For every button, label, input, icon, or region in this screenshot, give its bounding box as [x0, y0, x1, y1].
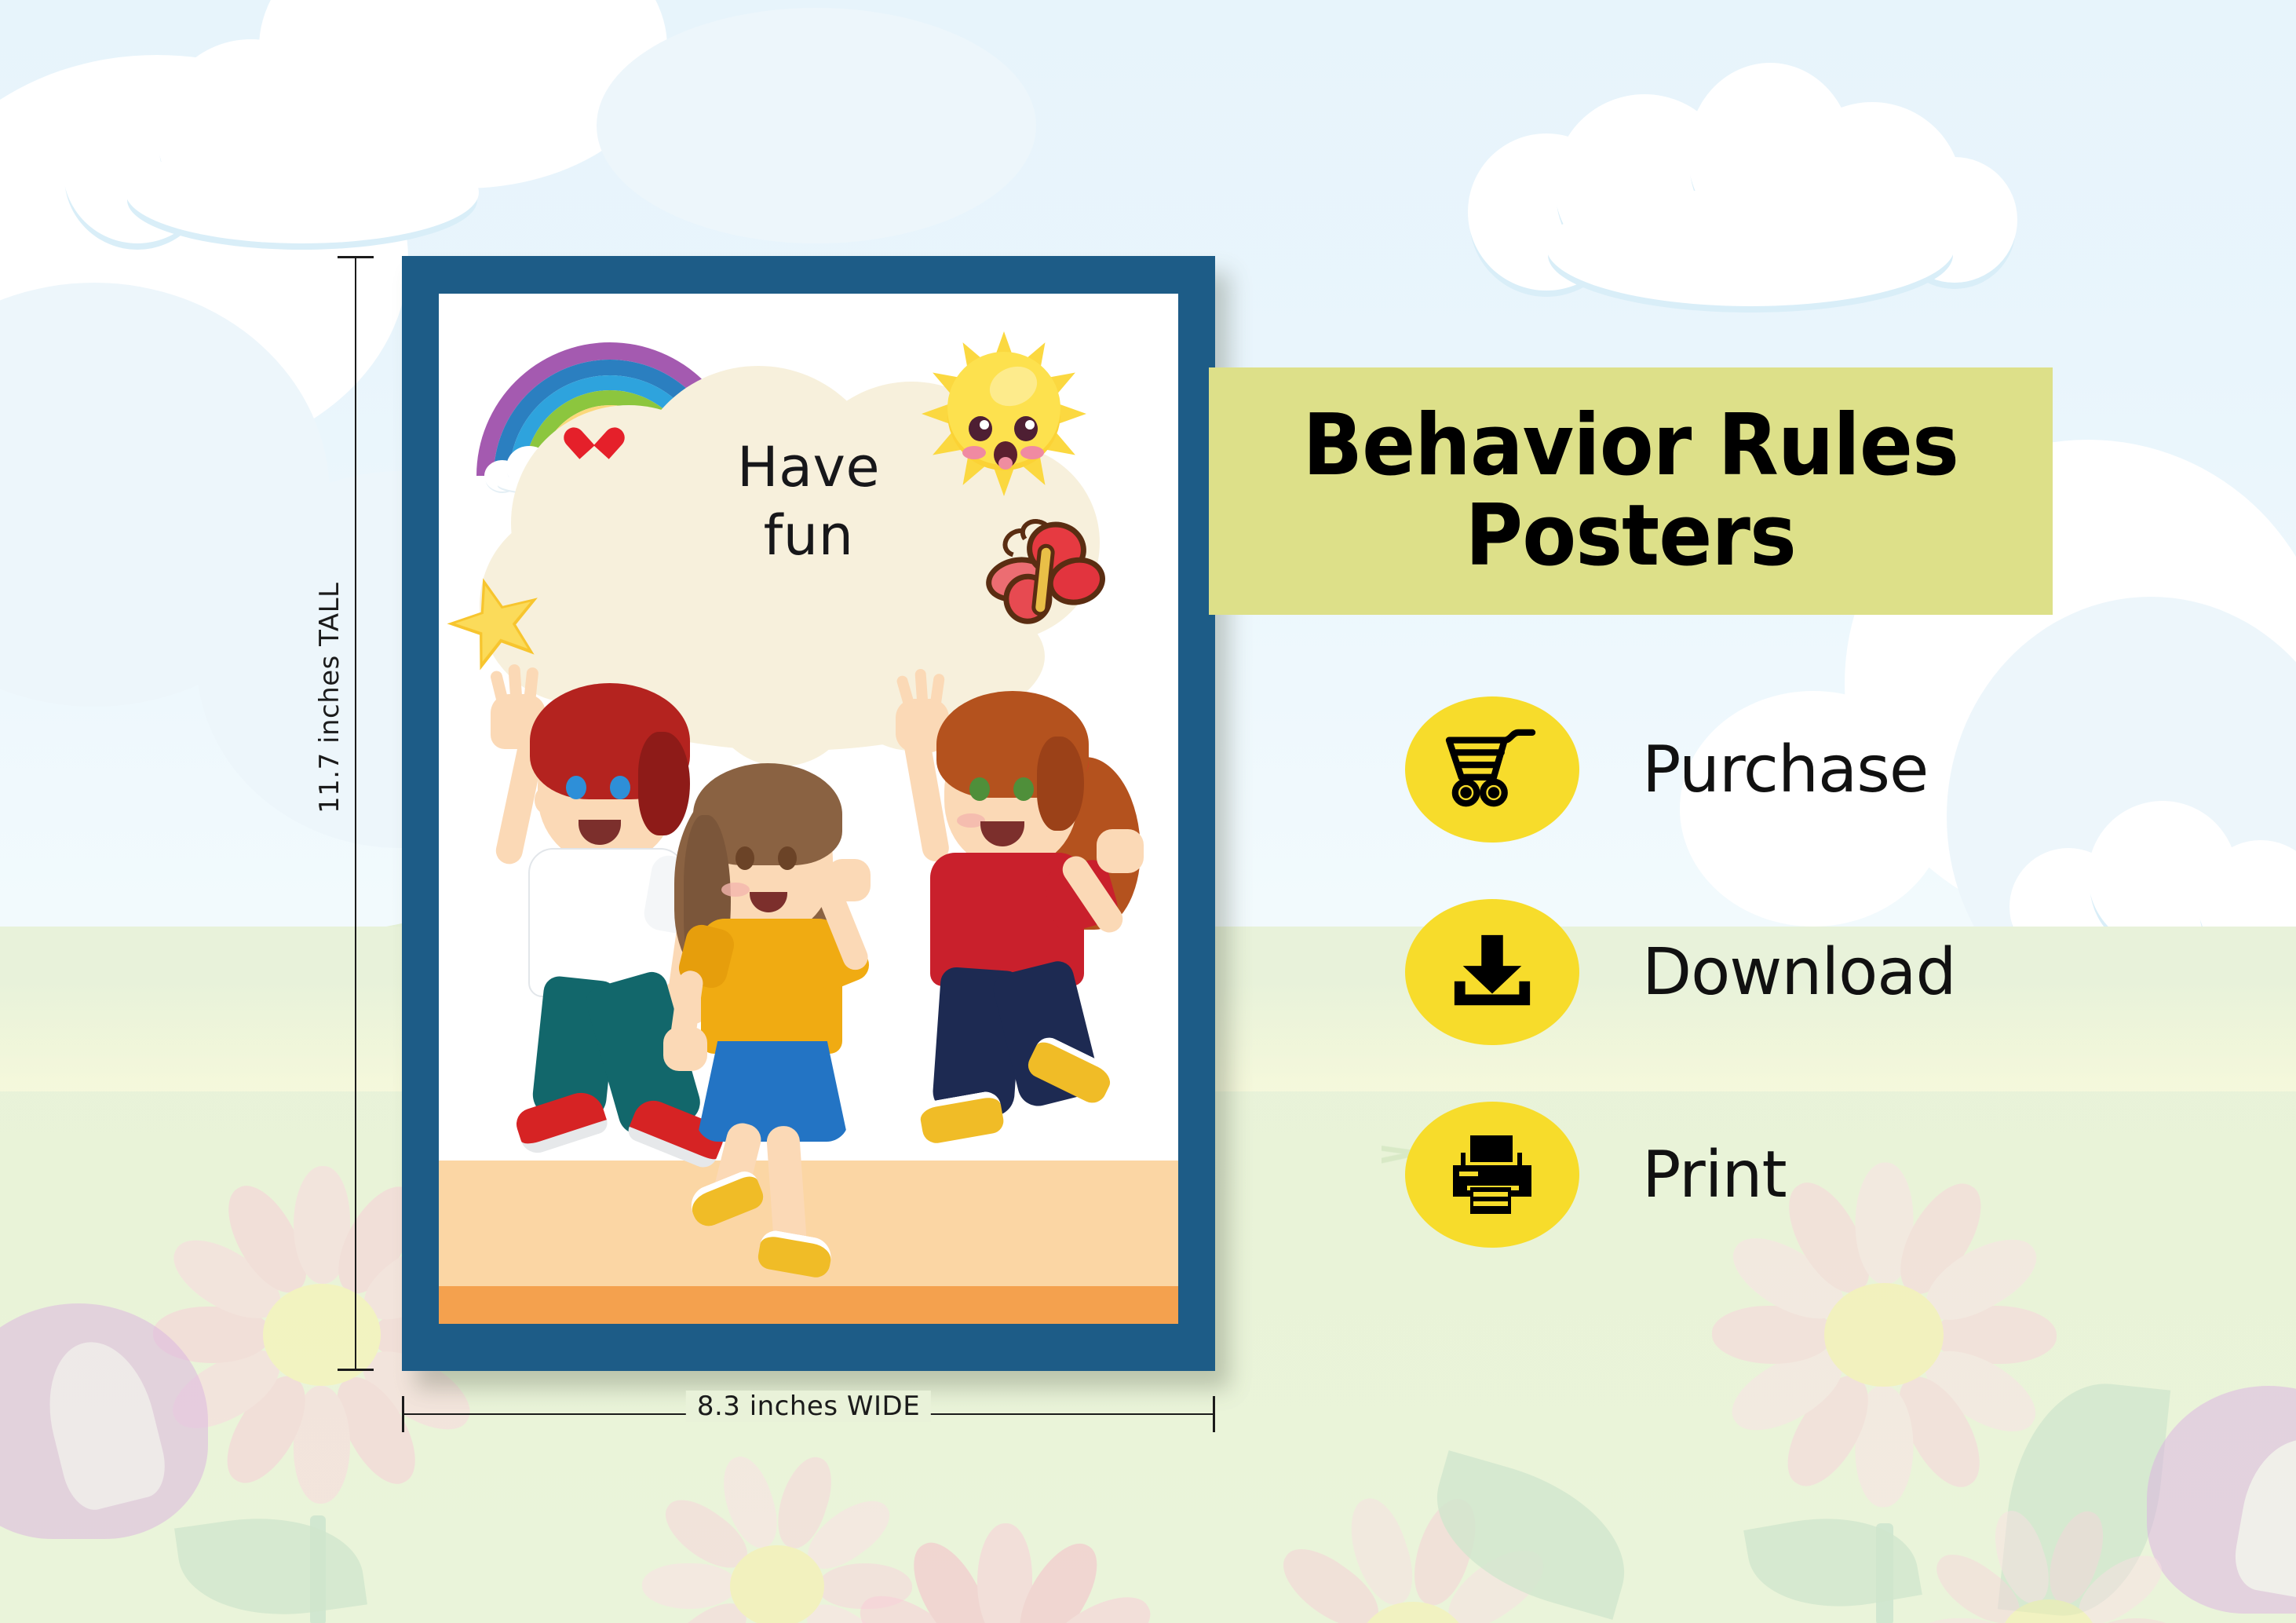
shopping-cart-icon[interactable] [1405, 696, 1579, 843]
flower-tulip-1 [0, 1256, 243, 1586]
girl-right-finger-2 [914, 669, 928, 709]
poster-mockup[interactable]: Have fun [402, 256, 1215, 1371]
kids-illustration [439, 642, 1178, 1161]
action-download[interactable]: Download [1405, 894, 2269, 1051]
title-banner: Behavior RulesPosters [1209, 367, 2053, 615]
girl-mid-hand-left [663, 1027, 707, 1071]
dimension-line-horizontal: 8.3 inches WIDE [402, 1413, 1215, 1415]
flower-daisy-6 [1884, 1476, 2214, 1623]
girl-mid-cheek [721, 883, 750, 897]
shopping-cart-glyph [1443, 726, 1542, 813]
action-label-purchase: Purchase [1642, 733, 1928, 807]
cloud-blob-5 [597, 8, 1036, 243]
poster-page: Have fun [439, 294, 1178, 1324]
action-list: Purchase Download Prin [1405, 691, 2269, 1299]
title-line-1: Behavior Rules [1303, 397, 1959, 495]
printer-icon[interactable] [1405, 1102, 1579, 1248]
page-title: Behavior RulesPosters [1303, 401, 1959, 581]
dimension-cap-top [338, 256, 374, 258]
flower-daisy-3 [809, 1492, 1201, 1623]
download-icon[interactable] [1405, 899, 1579, 1045]
girl-mid-eye-right [778, 846, 797, 870]
action-purchase[interactable]: Purchase [1405, 691, 2269, 848]
girl-right-shoe-left [918, 1089, 1006, 1145]
action-print[interactable]: Print [1405, 1096, 2269, 1253]
dimension-height-label: 11.7 inches TALL [314, 583, 345, 813]
boy-finger-2 [508, 664, 523, 706]
boy-ear [535, 787, 555, 813]
poster-ground-dark [439, 1286, 1178, 1324]
girl-mid-skirt [696, 1041, 849, 1142]
cloud-top-left [63, 16, 549, 251]
dimension-line-vertical [355, 256, 356, 1371]
action-label-download: Download [1642, 935, 1956, 1010]
download-glyph [1448, 929, 1536, 1015]
title-line-2: Posters [1466, 487, 1796, 585]
girl-right-eye-right [1013, 777, 1034, 801]
girl-mid-eye-left [736, 846, 754, 870]
boy-eye-right [610, 776, 630, 799]
action-label-print: Print [1642, 1138, 1787, 1212]
cloud-top-right [1452, 47, 2002, 306]
kid-girl-right [869, 666, 1152, 1161]
girl-right-eye-left [969, 777, 990, 801]
printer-glyph [1445, 1131, 1539, 1219]
boy-eye-left [566, 776, 586, 799]
boy-shoe-left [513, 1087, 610, 1157]
dimension-width-label: 8.3 inches WIDE [686, 1391, 931, 1422]
dimension-cap-left [402, 1396, 404, 1432]
poster-headline: Have fun [439, 433, 1178, 570]
dimension-cap-right [1213, 1396, 1215, 1432]
dimension-cap-bottom [338, 1369, 374, 1371]
girl-mid-fist-right [827, 859, 871, 901]
girl-right-hair-shadow [1037, 737, 1084, 831]
girl-right-hand-out [1097, 829, 1144, 873]
